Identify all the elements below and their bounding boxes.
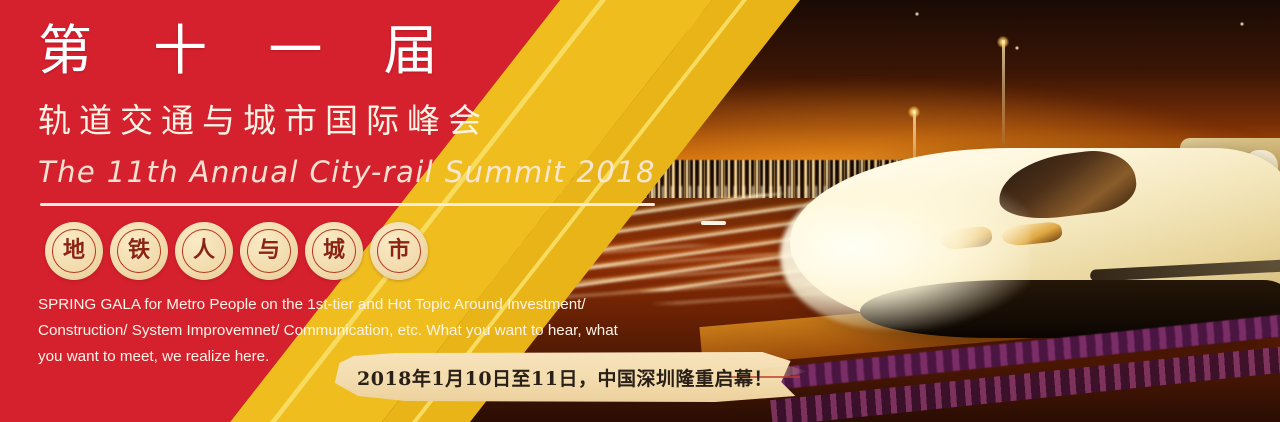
- keyword-coin: 铁: [110, 222, 168, 280]
- subtitle-english: The 11th Annual City-rail Summit 2018: [38, 158, 656, 187]
- keyword-coin: 人: [175, 222, 233, 280]
- train-nose-highlight: [780, 180, 1030, 330]
- star-light: [1015, 46, 1019, 50]
- divider-rule-short: [701, 221, 726, 225]
- keyword-coin: 与: [240, 222, 298, 280]
- date-banner-text: 2018年1月10日至11日，中国深圳隆重启幕！: [330, 352, 800, 402]
- lamp-glow: [908, 106, 920, 118]
- page-title: 第 十 一 届: [38, 24, 460, 78]
- keyword-coin-label: 地: [52, 229, 96, 273]
- event-banner: 第 十 一 届 轨道交通与城市国际峰会 The 11th Annual City…: [0, 0, 1280, 422]
- divider-rule: [40, 203, 655, 206]
- star-light: [1240, 22, 1244, 26]
- keyword-coin-label: 铁: [117, 229, 161, 273]
- date-banner: 2018年1月10日至11日，中国深圳隆重启幕！: [330, 352, 800, 404]
- keyword-coin: 市: [370, 222, 428, 280]
- subtitle-chinese: 轨道交通与城市国际峰会: [38, 104, 489, 137]
- keyword-coin-label: 与: [247, 229, 291, 273]
- keyword-coin: 城: [305, 222, 363, 280]
- keyword-coin: 地: [45, 222, 103, 280]
- keyword-coin-label: 人: [182, 229, 226, 273]
- keyword-coin-label: 城: [312, 229, 356, 273]
- keyword-coin-row: 地 铁 人 与 城 市: [45, 222, 428, 280]
- star-light: [915, 12, 919, 16]
- keyword-coin-label: 市: [377, 229, 421, 273]
- lamp-glow: [997, 36, 1009, 48]
